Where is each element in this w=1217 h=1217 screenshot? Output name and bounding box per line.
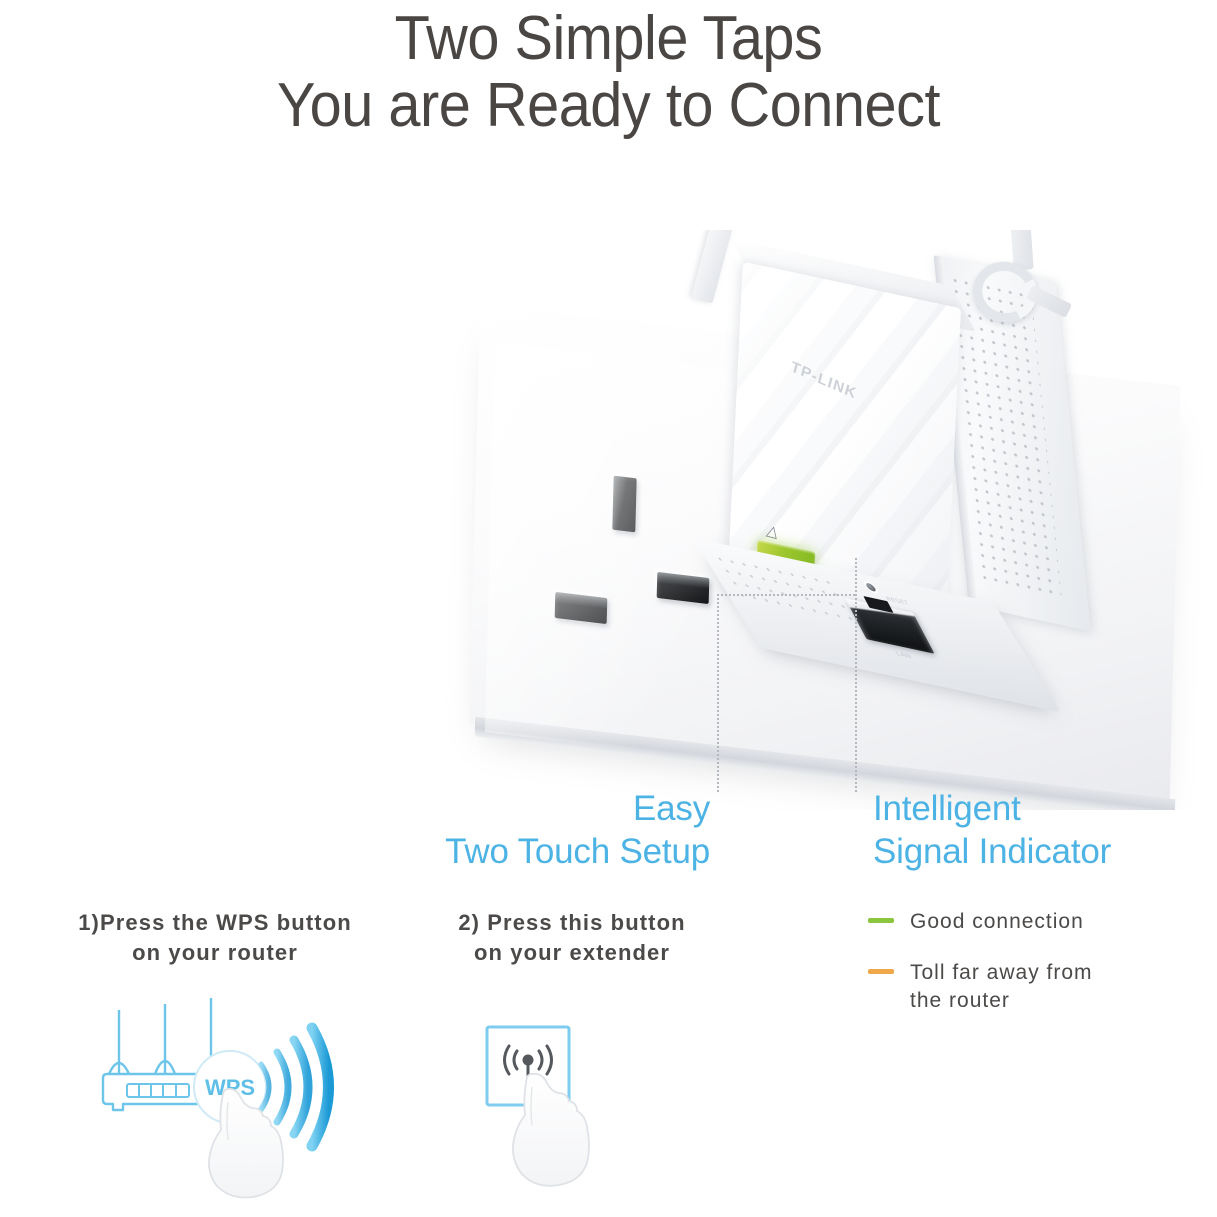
legend-item-good: Good connection — [868, 908, 1198, 935]
legend-dash-orange-icon — [868, 969, 894, 974]
router-wps-illustration: WPS — [95, 990, 385, 1205]
legend-item-far: Toll far away from the router — [868, 959, 1198, 1014]
range-extender-device: TP-LINK △ LAN RESET — [705, 250, 1125, 670]
pointing-hand-icon-2 — [513, 1074, 589, 1186]
step-2-instruction: 2) Press this button on your extender — [412, 908, 732, 967]
product-photo: TP-LINK △ LAN RESET — [420, 230, 1217, 810]
callout-intelligent-signal-indicator: Intelligent Signal Indicator — [873, 788, 1203, 873]
signal-legend: Good connection Toll far away from the r… — [868, 908, 1198, 1038]
legend-dash-green-icon — [868, 918, 894, 923]
socket-earth-slot — [612, 476, 636, 533]
legend-label-far: Toll far away from the router — [910, 959, 1093, 1014]
headline-line-2: You are Ready to Connect — [43, 73, 1175, 140]
leader-line-easy-horizontal — [717, 594, 855, 596]
headline-line-1: Two Simple Taps — [395, 4, 823, 73]
leader-line-easy-vertical — [717, 594, 719, 792]
reset-button-icon — [864, 582, 877, 592]
page-title: Two Simple Taps You are Ready to Connect — [43, 6, 1175, 140]
callout-easy-two-touch-setup: Easy Two Touch Setup — [380, 788, 710, 873]
router-led-row-icon — [127, 1084, 189, 1097]
extender-button-illustration — [465, 1015, 655, 1210]
step-1-instruction: 1)Press the WPS button on your router — [30, 908, 400, 967]
ethernet-port-label: LAN — [895, 650, 914, 660]
legend-label-good: Good connection — [910, 908, 1084, 935]
leader-line-signal-vertical — [855, 558, 857, 792]
